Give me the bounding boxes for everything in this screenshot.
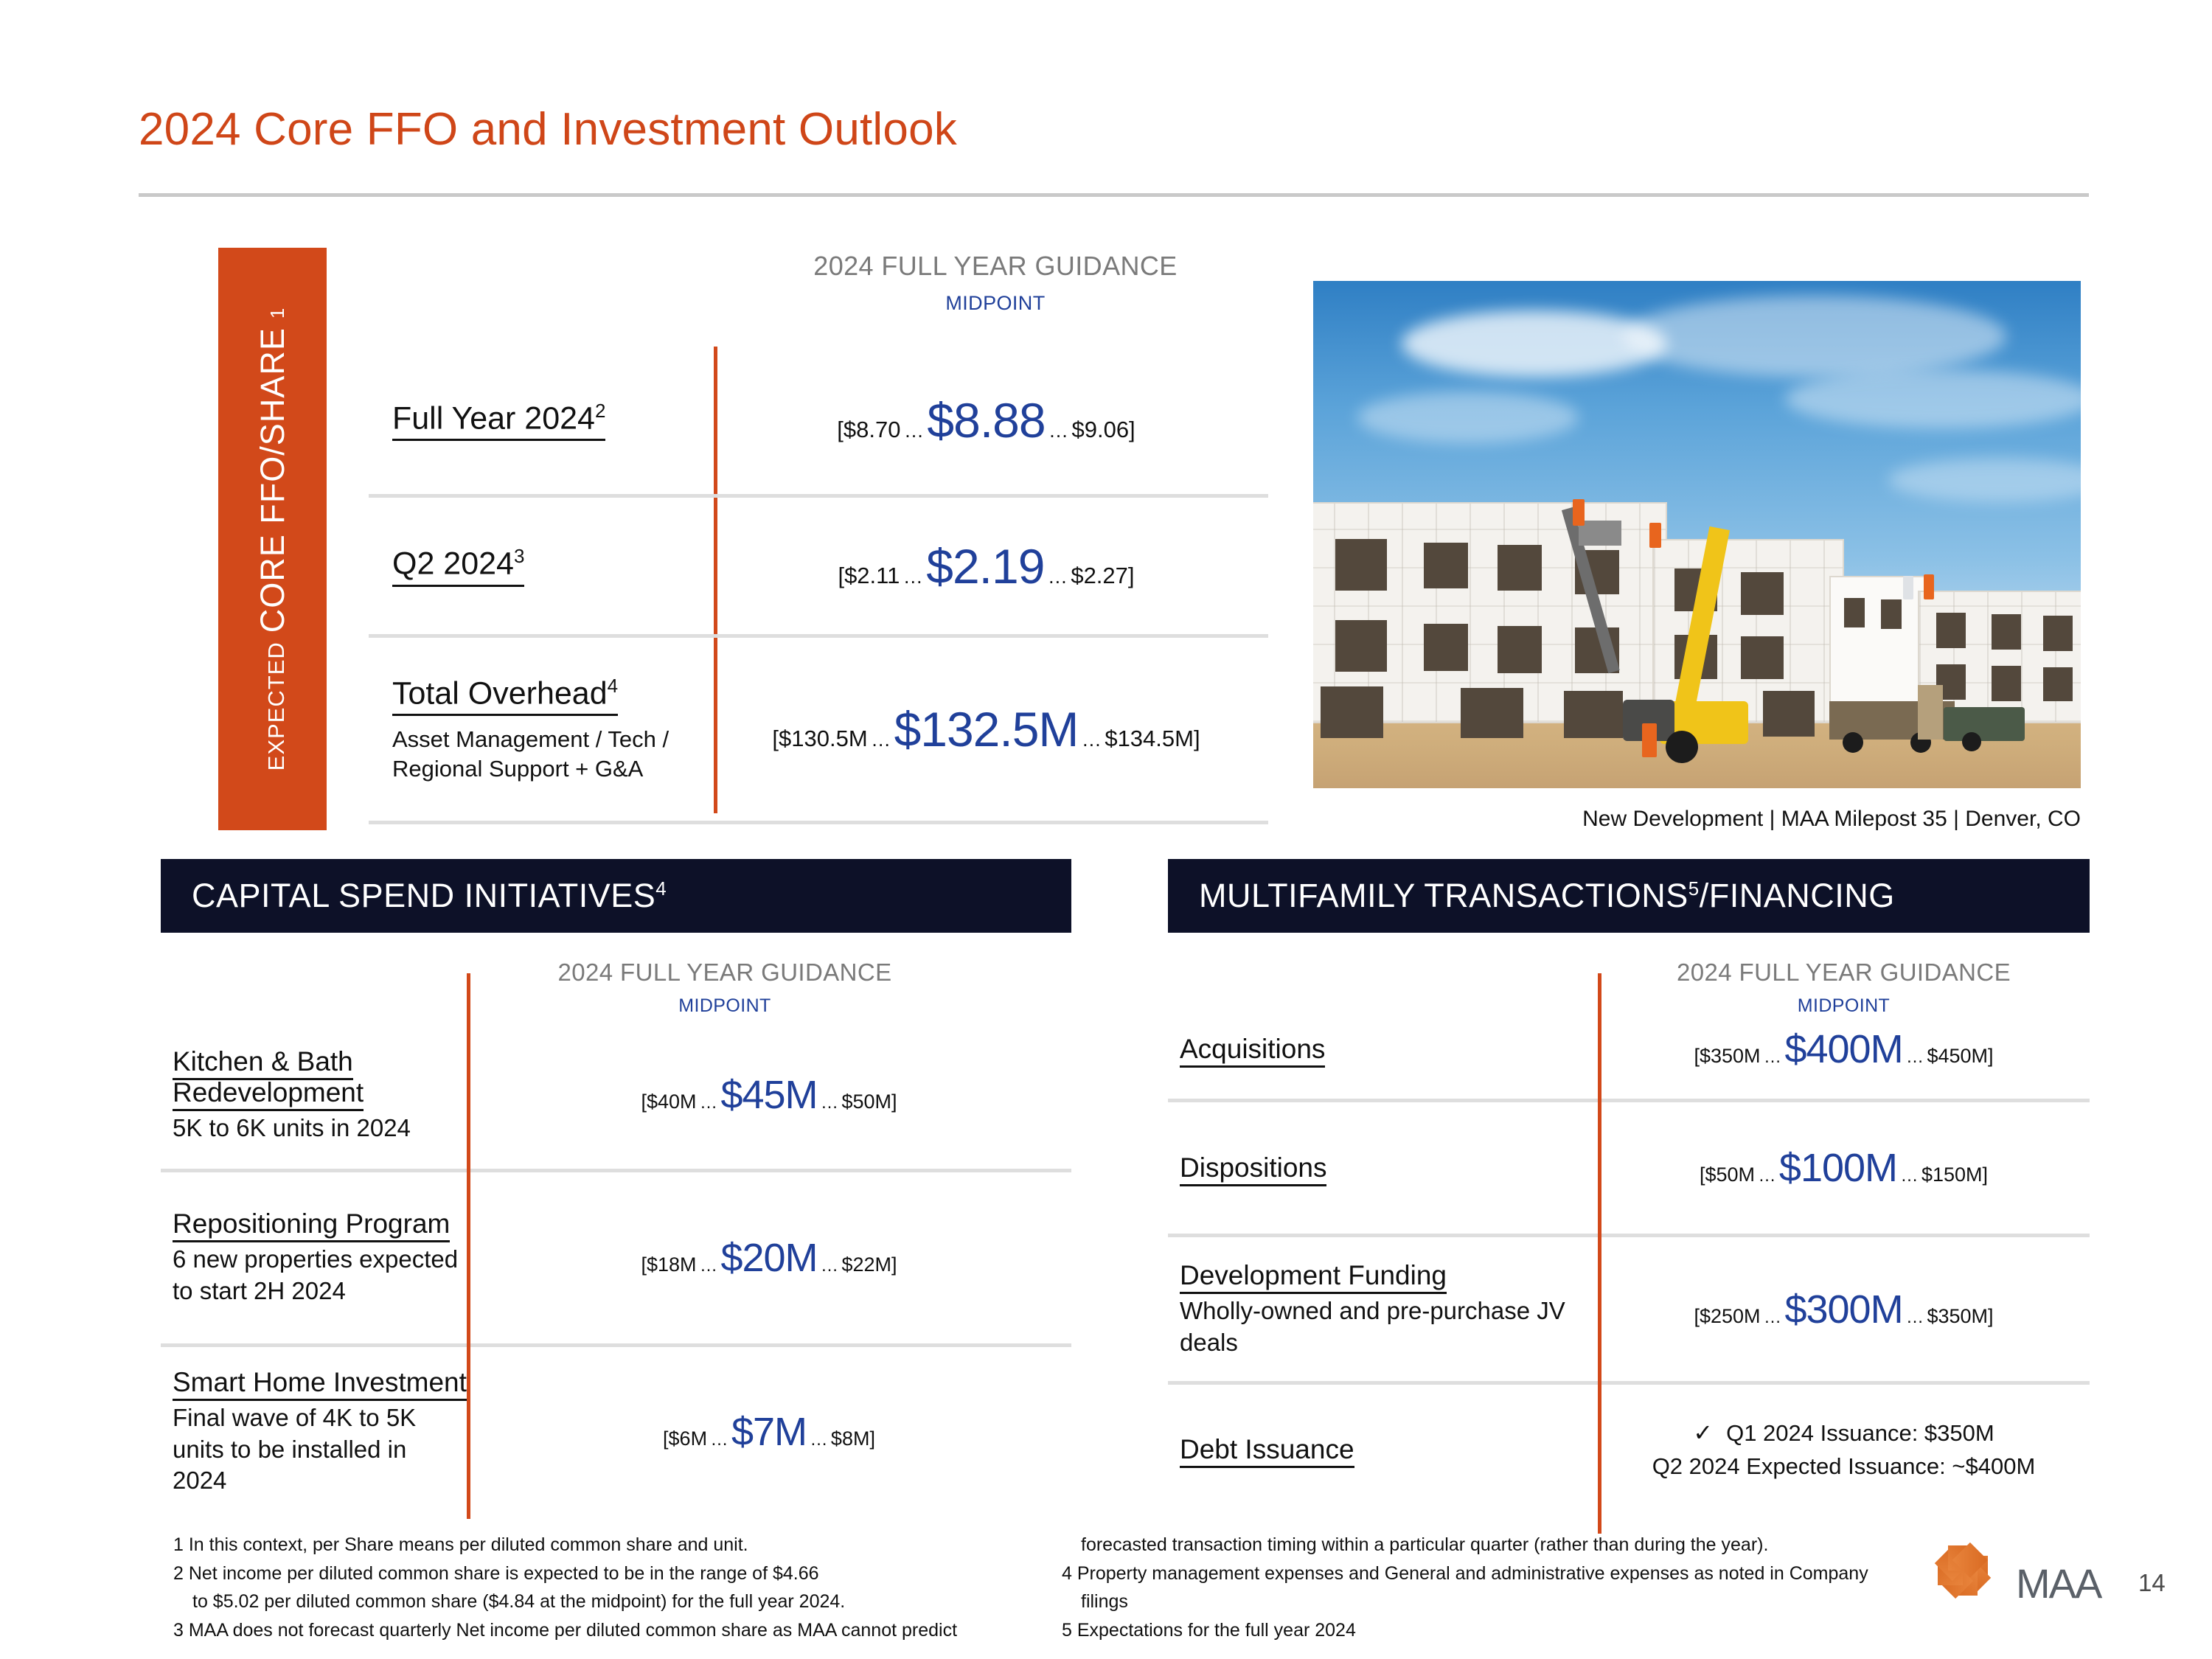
guidance-range: [$250M … $300M … $350M] <box>1598 1290 2090 1329</box>
ellipsis-right: … <box>1048 420 1068 442</box>
core-ffo-table: Full Year 20242 [$8.70 … $8.88 … $9.06] … <box>369 347 1268 824</box>
ellipsis-right: … <box>1901 1166 1919 1186</box>
range-low: [$2.11 <box>838 563 900 588</box>
window <box>1881 599 1902 629</box>
row-sublabel: Asset Management / Tech / Regional Suppo… <box>392 725 704 783</box>
multifamily-header-bar: MULTIFAMILY TRANSACTIONS5/FINANCING <box>1168 859 2090 933</box>
window <box>1498 545 1542 591</box>
row-label: Dispositions <box>1180 1152 1598 1183</box>
ellipsis-left: … <box>903 566 923 588</box>
debt-issuance-values: ✓Q1 2024 Issuance: $350M Q2 2024 Expecte… <box>1598 1416 2090 1484</box>
ellipsis-left: … <box>904 420 924 442</box>
row-label-cell: Repositioning Program 6 new properties e… <box>161 1208 467 1307</box>
list-item: Repositioning Program 6 new properties e… <box>161 1172 1071 1343</box>
range-low: [$350M <box>1694 1045 1760 1067</box>
footnote-item: 5 Expectations for the full year 2024 <box>1062 1618 1947 1644</box>
maa-logo: MAA <box>1947 1554 2101 1612</box>
range-high: $22M] <box>841 1253 897 1276</box>
list-item: Kitchen & Bath Redevelopment 5K to 6K un… <box>161 1021 1071 1169</box>
cloud <box>1785 369 2081 428</box>
row-label: Q2 20243 <box>392 545 524 586</box>
guidance-range: [$18M … $20M … $22M] <box>467 1238 1071 1278</box>
row-sublabel: Final wave of 4K to 5K units to be insta… <box>173 1402 467 1498</box>
range-midpoint: $45M <box>720 1073 817 1117</box>
guidance-range: [$50M … $100M … $150M] <box>1598 1148 2090 1188</box>
row-label: Smart Home Investment <box>173 1367 467 1398</box>
range-midpoint: $8.88 <box>927 393 1045 448</box>
title-divider <box>139 193 2089 197</box>
window <box>1844 598 1865 627</box>
garage-opening <box>1461 688 1523 738</box>
garage-opening <box>1321 686 1383 738</box>
window <box>1741 572 1784 615</box>
range-high: $9.06] <box>1071 417 1135 442</box>
guidance-range: [$350M … $400M … $450M] <box>1598 1029 2090 1069</box>
capital-spend-header-bar: CAPITAL SPEND INITIATIVES4 <box>161 859 1071 933</box>
core-ffo-guidance-header: 2024 FULL YEAR GUIDANCE MIDPOINT <box>723 251 1268 315</box>
garage-opening <box>1564 691 1623 738</box>
window <box>1498 626 1542 673</box>
row-sublabel: Wholly-owned and pre-purchase JV deals <box>1180 1295 1598 1359</box>
photo-caption: New Development | MAA Milepost 35 | Denv… <box>1313 807 2081 832</box>
core-ffo-band-label: EXPECTED CORE FFO/SHARE 1 <box>254 307 292 771</box>
row-label-cell: Acquisitions <box>1168 1034 1598 1065</box>
crane-basket <box>1579 521 1621 546</box>
list-item: Development Funding Wholly-owned and pre… <box>1168 1237 2090 1381</box>
ellipsis-right: … <box>1082 728 1102 751</box>
range-high: $50M] <box>841 1091 897 1113</box>
range-low: [$6M <box>663 1427 707 1450</box>
cloud <box>1357 392 1579 443</box>
list-item: Acquisitions [$350M … $400M … $450M] <box>1168 999 2090 1099</box>
range-low: [$50M <box>1700 1164 1755 1186</box>
row-separator <box>369 821 1268 824</box>
ellipsis-left: … <box>711 1430 728 1450</box>
page-title: 2024 Core FFO and Investment Outlook <box>139 103 957 156</box>
core-ffo-band: EXPECTED CORE FFO/SHARE 1 <box>218 248 327 830</box>
range-high: $450M] <box>1927 1045 1993 1067</box>
range-low: [$130.5M <box>772 726 867 751</box>
ellipsis-right: … <box>1906 1307 1924 1327</box>
row-value-cell: [$40M … $45M … $50M] <box>467 1075 1071 1115</box>
ellipsis-left: … <box>1764 1307 1781 1327</box>
row-value-cell: [$2.11 … $2.19 … $2.27] <box>704 542 1268 591</box>
row-value-cell: [$350M … $400M … $450M] <box>1598 1029 2090 1069</box>
range-low: [$8.70 <box>837 417 900 442</box>
ellipsis-right: … <box>810 1430 827 1450</box>
table-row: Full Year 20242 [$8.70 … $8.88 … $9.06] <box>369 347 1268 494</box>
row-sublabel: 5K to 6K units in 2024 <box>173 1113 467 1144</box>
guidance-range: [$130.5M … $132.5M … $134.5M] <box>704 705 1268 754</box>
multifamily-panel: 2024 FULL YEAR GUIDANCE MIDPOINT Acquisi… <box>1168 959 2090 1514</box>
debt-line-2: Q2 2024 Expected Issuance: ~$400M <box>1598 1450 2090 1484</box>
page-number: 14 <box>2138 1569 2166 1597</box>
footnotes-right: forecasted transaction timing within a p… <box>1062 1532 1947 1646</box>
row-label: Acquisitions <box>1180 1034 1598 1065</box>
row-label: Debt Issuance <box>1180 1434 1598 1465</box>
range-low: [$18M <box>641 1253 697 1276</box>
development-photo <box>1313 281 2081 788</box>
window <box>1424 624 1468 671</box>
guidance-header-label: 2024 FULL YEAR GUIDANCE <box>723 251 1268 282</box>
row-value-cell: [$130.5M … $132.5M … $134.5M] <box>704 705 1268 754</box>
capital-spend-header-text: CAPITAL SPEND INITIATIVES4 <box>192 877 667 915</box>
wheel <box>1962 732 1981 751</box>
guidance-header-label: 2024 FULL YEAR GUIDANCE <box>467 959 983 987</box>
range-high: $150M] <box>1921 1164 1988 1186</box>
row-value-cell: [$250M … $300M … $350M] <box>1598 1290 2090 1329</box>
ellipsis-left: … <box>700 1093 717 1113</box>
footnote-item: 2 Net income per diluted common share is… <box>173 1561 1043 1587</box>
window <box>1335 620 1387 672</box>
footnote-item: filings <box>1062 1589 1947 1615</box>
worker <box>1642 723 1657 757</box>
window <box>1992 614 2021 650</box>
row-value-cell: [$6M … $7M … $8M] <box>467 1412 1071 1452</box>
window <box>1424 543 1468 588</box>
capital-spend-guidance-header: 2024 FULL YEAR GUIDANCE MIDPOINT <box>467 959 983 1017</box>
guidance-range: [$6M … $7M … $8M] <box>467 1412 1071 1452</box>
window <box>1741 636 1784 679</box>
row-label: Full Year 20242 <box>392 400 605 441</box>
row-label-cell: Smart Home Investment Final wave of 4K t… <box>161 1367 467 1498</box>
row-label-cell: Dispositions <box>1168 1152 1598 1183</box>
footnote-item: 3 MAA does not forecast quarterly Net in… <box>173 1618 1043 1644</box>
band-prefix: EXPECTED <box>263 641 290 771</box>
row-label: Repositioning Program <box>173 1208 467 1239</box>
row-value-cell: ✓Q1 2024 Issuance: $350M Q2 2024 Expecte… <box>1598 1416 2090 1484</box>
pickup-truck <box>1944 707 2025 741</box>
row-label-cell: Total Overhead4 Asset Management / Tech … <box>369 675 704 784</box>
range-low: [$250M <box>1694 1305 1760 1327</box>
ellipsis-left: … <box>1758 1166 1775 1186</box>
row-value-cell: [$18M … $20M … $22M] <box>467 1238 1071 1278</box>
worker <box>1649 523 1661 548</box>
row-label-cell: Q2 20243 <box>369 545 704 586</box>
range-midpoint: $20M <box>720 1236 817 1280</box>
footnote-item: to $5.02 per diluted common share ($4.84… <box>173 1589 1043 1615</box>
check-icon: ✓ <box>1693 1419 1713 1446</box>
row-value-cell: [$50M … $100M … $150M] <box>1598 1148 2090 1188</box>
wheel <box>1843 732 1863 753</box>
cloud <box>1623 296 2006 377</box>
row-label-cell: Development Funding Wholly-owned and pre… <box>1168 1260 1598 1359</box>
range-midpoint: $300M <box>1784 1287 1902 1332</box>
ellipsis-left: … <box>1764 1047 1781 1067</box>
range-high: $8M] <box>831 1427 875 1450</box>
slide-root: 2024 Core FFO and Investment Outlook EXP… <box>0 0 2212 1659</box>
worker <box>1573 499 1585 526</box>
garage-opening <box>1763 691 1815 737</box>
row-label-cell: Full Year 20242 <box>369 400 704 441</box>
range-midpoint: $100M <box>1779 1146 1897 1190</box>
building-material <box>1918 685 1943 740</box>
guidance-range: [$2.11 … $2.19 … $2.27] <box>704 542 1268 591</box>
window <box>2043 616 2073 651</box>
ellipsis-right: … <box>821 1256 838 1276</box>
midpoint-header-label: MIDPOINT <box>467 995 983 1017</box>
multifamily-header-text: MULTIFAMILY TRANSACTIONS5/FINANCING <box>1199 877 1895 915</box>
ellipsis-right: … <box>821 1093 838 1113</box>
window <box>2043 667 2073 701</box>
worker <box>1903 576 1913 599</box>
row-sublabel: 6 new properties expected to start 2H 20… <box>173 1244 467 1307</box>
band-superscript: 1 <box>266 307 289 319</box>
row-value-cell: [$8.70 … $8.88 … $9.06] <box>704 396 1268 445</box>
table-row: Q2 20243 [$2.11 … $2.19 … $2.27] <box>369 498 1268 634</box>
ellipsis-right: … <box>1906 1047 1924 1067</box>
range-midpoint: $2.19 <box>926 539 1044 594</box>
footnote-item: 1 In this context, per Share means per d… <box>173 1532 1043 1559</box>
guidance-header-label: 2024 FULL YEAR GUIDANCE <box>1598 959 2090 987</box>
debt-line-1: ✓Q1 2024 Issuance: $350M <box>1598 1416 2090 1450</box>
row-label: Development Funding <box>1180 1260 1598 1291</box>
window <box>1936 613 1966 648</box>
row-label: Total Overhead4 <box>392 675 618 716</box>
ellipsis-left: … <box>700 1256 717 1276</box>
footnotes-left: 1 In this context, per Share means per d… <box>173 1532 1043 1646</box>
range-high: $2.27] <box>1071 563 1134 588</box>
footnote-item: 4 Property management expenses and Gener… <box>1062 1561 1947 1587</box>
range-high: $134.5M] <box>1105 726 1200 751</box>
ellipsis-left: … <box>871 728 891 751</box>
table-row: Total Overhead4 Asset Management / Tech … <box>369 638 1268 821</box>
ellipsis-right: … <box>1048 566 1068 588</box>
range-high: $350M] <box>1927 1305 1993 1327</box>
list-item: Dispositions [$50M … $100M … $150M] <box>1168 1102 2090 1234</box>
guidance-range: [$40M … $45M … $50M] <box>467 1075 1071 1115</box>
maa-flower-icon <box>1947 1554 2004 1612</box>
range-midpoint: $132.5M <box>894 702 1079 757</box>
window <box>1335 539 1387 591</box>
footnote-item: forecasted transaction timing within a p… <box>1062 1532 1947 1559</box>
worker <box>1924 574 1934 599</box>
band-label: CORE FFO/SHARE <box>254 327 292 633</box>
list-item: Debt Issuance ✓Q1 2024 Issuance: $350M Q… <box>1168 1385 2090 1514</box>
guidance-range: [$8.70 … $8.88 … $9.06] <box>704 396 1268 445</box>
capital-spend-panel: 2024 FULL YEAR GUIDANCE MIDPOINT Kitchen… <box>161 959 1071 1517</box>
range-low: [$40M <box>641 1091 697 1113</box>
range-midpoint: $400M <box>1784 1027 1902 1071</box>
midpoint-header-label: MIDPOINT <box>723 292 1268 315</box>
window <box>1992 666 2021 701</box>
maa-logo-text: MAA <box>2016 1559 2101 1607</box>
row-label-cell: Debt Issuance <box>1168 1434 1598 1465</box>
list-item: Smart Home Investment Final wave of 4K t… <box>161 1347 1071 1517</box>
range-midpoint: $7M <box>731 1410 807 1454</box>
row-label: Kitchen & Bath Redevelopment <box>173 1046 467 1108</box>
crane-wheel <box>1666 731 1698 763</box>
row-label-cell: Kitchen & Bath Redevelopment 5K to 6K un… <box>161 1046 467 1144</box>
